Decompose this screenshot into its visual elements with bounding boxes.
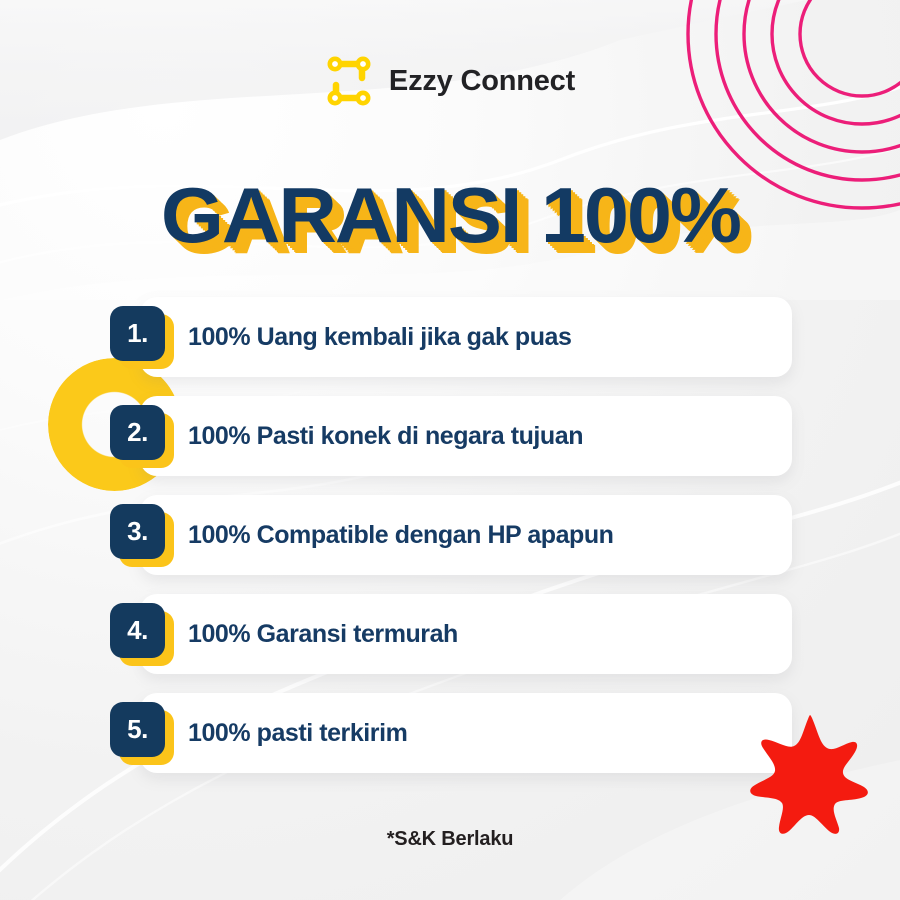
list-item[interactable]: 100% Uang kembali jika gak puas 1. <box>0 297 900 377</box>
page-title: GARANSI 100% <box>160 176 739 254</box>
guarantee-text: 100% Compatible dengan HP apapun <box>188 495 614 575</box>
guarantee-card[interactable]: 100% Pasti konek di negara tujuan <box>140 396 792 476</box>
list-item[interactable]: 100% Compatible dengan HP apapun 3. <box>0 495 900 575</box>
guarantee-text: 100% Garansi termurah <box>188 594 458 674</box>
guarantee-card[interactable]: 100% Uang kembali jika gak puas <box>140 297 792 377</box>
guarantee-number-badge: 2. <box>110 405 165 460</box>
footnote: *S&K Berlaku <box>0 828 900 851</box>
list-item[interactable]: 100% Pasti konek di negara tujuan 2. <box>0 396 900 476</box>
list-item[interactable]: 100% pasti terkirim 5. <box>0 693 900 773</box>
poster-canvas: Ezzy Connect GARANSI 100% 100% Uang kemb… <box>0 0 900 900</box>
list-item[interactable]: 100% Garansi termurah 4. <box>0 594 900 674</box>
headline-container: GARANSI 100% <box>0 160 900 270</box>
guarantee-number-badge: 5. <box>110 702 165 757</box>
guarantee-list: 100% Uang kembali jika gak puas 1. 100% … <box>0 297 900 792</box>
network-nodes-icon <box>325 55 373 107</box>
guarantee-text: 100% Uang kembali jika gak puas <box>188 297 571 377</box>
guarantee-card[interactable]: 100% pasti terkirim <box>140 693 792 773</box>
guarantee-number-badge: 1. <box>110 306 165 361</box>
guarantee-text: 100% Pasti konek di negara tujuan <box>188 396 583 476</box>
guarantee-text: 100% pasti terkirim <box>188 693 407 773</box>
brand-header: Ezzy Connect <box>0 55 900 107</box>
guarantee-card[interactable]: 100% Compatible dengan HP apapun <box>140 495 792 575</box>
guarantee-number-badge: 4. <box>110 603 165 658</box>
brand-name: Ezzy Connect <box>389 67 575 96</box>
guarantee-number-badge: 3. <box>110 504 165 559</box>
guarantee-card[interactable]: 100% Garansi termurah <box>140 594 792 674</box>
